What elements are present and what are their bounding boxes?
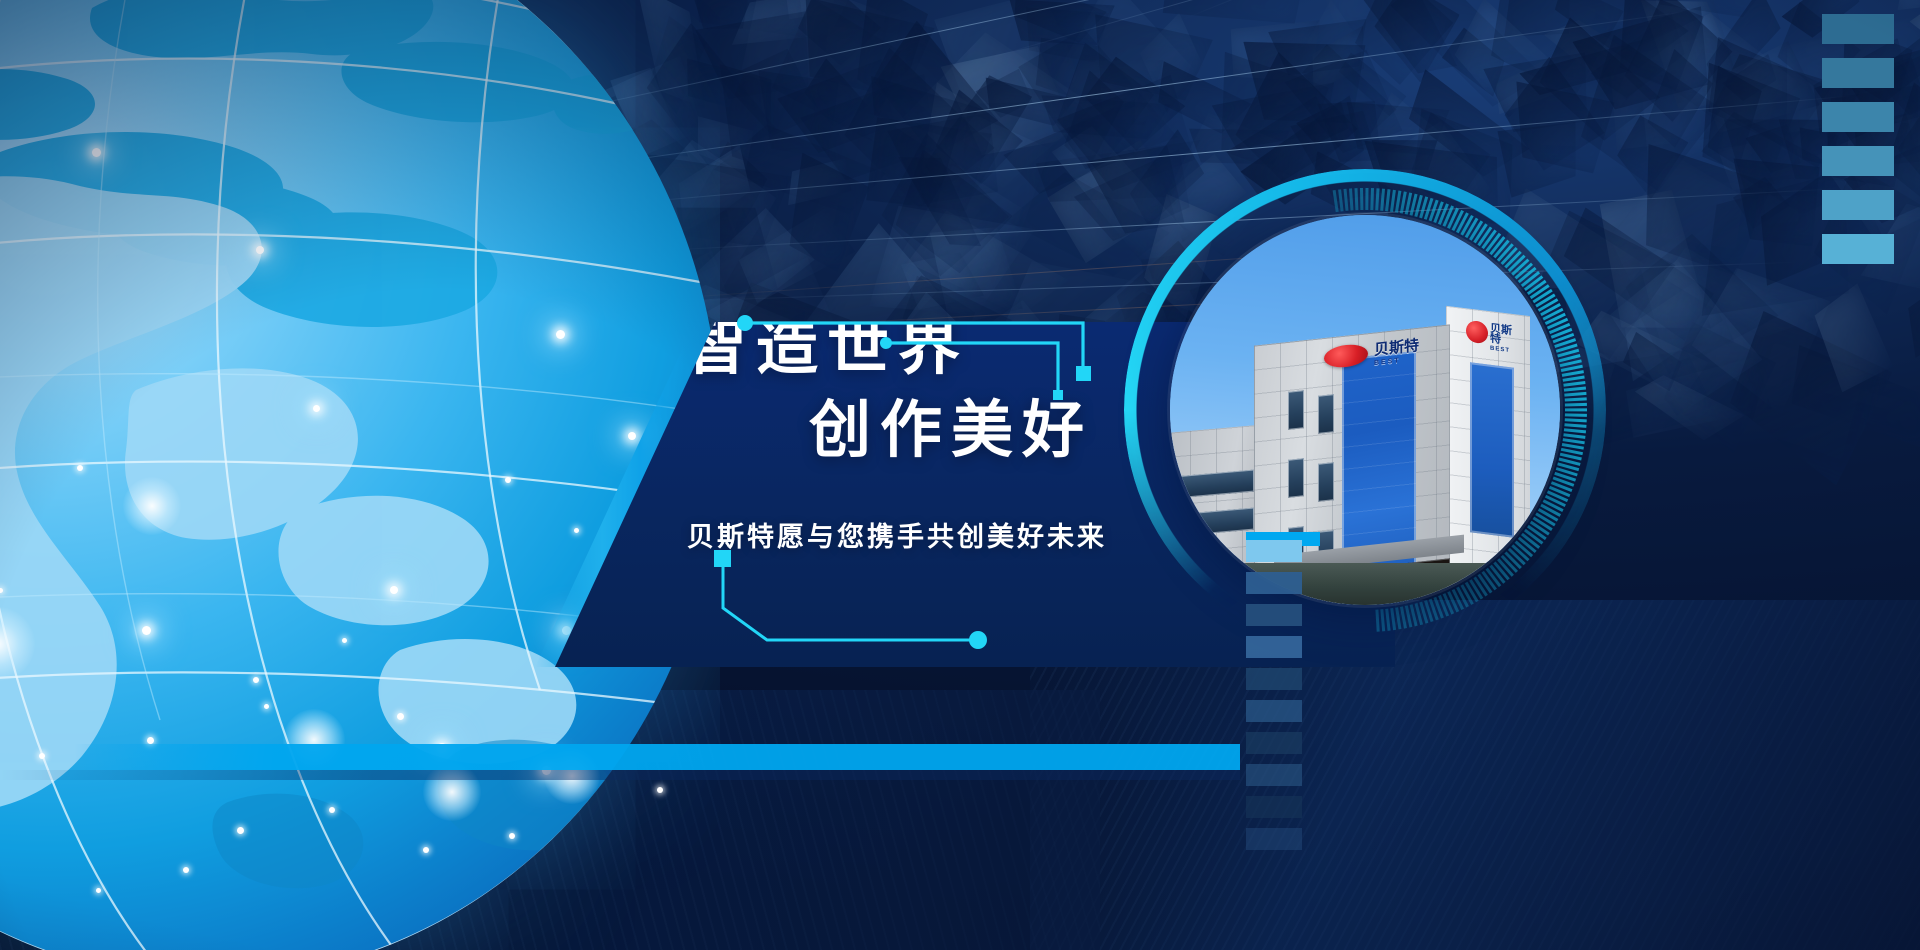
building-photo: 贝斯特 BEST 贝斯特 BEST 热烈欢迎各级领导莅临 — [1170, 215, 1560, 605]
mid-decor-block — [1246, 700, 1302, 722]
building-photo-medallion: 贝斯特 BEST 贝斯特 BEST 热烈欢迎各级领导莅临 — [1130, 175, 1600, 645]
window — [1318, 394, 1334, 434]
building-sign-side-cn-text: 贝斯特 — [1490, 323, 1512, 346]
edge-decor-block — [1822, 146, 1894, 176]
edge-decor-block — [1822, 58, 1894, 88]
building-sign-main: 贝斯特 BEST — [1374, 338, 1430, 366]
foreground-ground — [1170, 563, 1560, 605]
globe-graphic — [0, 0, 720, 950]
mid-decor-block — [1246, 668, 1302, 690]
mid-decor-block — [1246, 636, 1302, 658]
mid-decor-block — [1246, 604, 1302, 626]
tagline: 贝斯特愿与您携手共创美好未来 — [687, 515, 1107, 554]
mid-decor-block — [1246, 732, 1302, 754]
window — [1288, 390, 1304, 430]
bottom-cyan-band — [0, 744, 1240, 770]
logo-oval-icon — [1324, 343, 1368, 370]
window — [1318, 462, 1334, 502]
company-logo-mark — [1322, 340, 1370, 371]
edge-decor-block — [1822, 190, 1894, 220]
edge-decor-block — [1822, 102, 1894, 132]
building-sign-side-wrap: 贝斯特 BEST — [1490, 324, 1520, 358]
curtain-wall-right — [1470, 362, 1514, 537]
headline-line-1: 智造世界 — [685, 317, 969, 379]
logo-oval-icon-side — [1466, 320, 1488, 345]
edge-decor-block — [1822, 14, 1894, 44]
mid-decor-blocks — [1246, 540, 1306, 870]
edge-decor-block — [1822, 234, 1894, 264]
bottom-shadow-band — [0, 770, 1240, 780]
mid-decor-block — [1246, 572, 1302, 594]
hero-banner: 智造世界 创作美好 贝斯特愿与您携手共创美好未来 — [0, 0, 1920, 950]
mid-decor-block — [1246, 828, 1302, 850]
mid-decor-block — [1246, 796, 1302, 818]
mid-decor-block — [1246, 764, 1302, 786]
right-edge-decor-blocks — [1824, 0, 1920, 280]
window — [1288, 458, 1304, 498]
headline-line-2: 创作美好 — [809, 400, 1093, 462]
mid-decor-block — [1246, 540, 1302, 562]
